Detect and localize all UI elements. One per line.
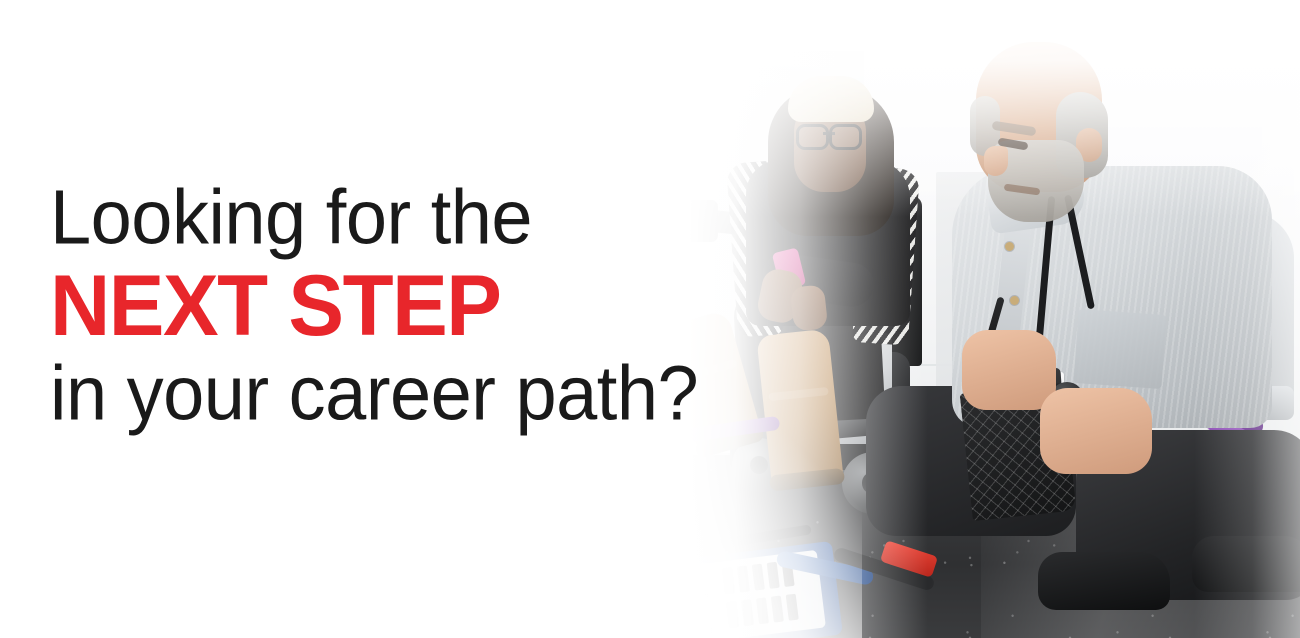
headline-line-1: Looking for the: [50, 176, 710, 259]
caster-hub: [750, 456, 768, 474]
shirt-button: [1005, 242, 1014, 251]
technician-hand-lower: [1040, 388, 1152, 474]
technician-hand-upper: [962, 330, 1056, 410]
eyeglass-lens-left: [796, 124, 829, 150]
career-banner: Looking for the NEXT STEP in your career…: [0, 0, 1300, 638]
woman-eyeglasses: [796, 124, 862, 144]
technician-nose: [984, 146, 1008, 176]
woman-knit-hat: [788, 76, 874, 122]
photo-scene: [636, 0, 1300, 638]
woman-hand-right: [790, 284, 828, 331]
boot-seam: [768, 387, 829, 401]
headline-line-2-accent: NEXT STEP: [50, 258, 500, 354]
eyeglass-lens-right: [829, 124, 862, 150]
banner-photo: [636, 0, 1300, 638]
headline-line-2-wrapper: NEXT STEP: [50, 256, 710, 356]
headline-block: Looking for the NEXT STEP in your career…: [50, 176, 710, 432]
technician-shoe-back: [1192, 536, 1300, 592]
technician-shoe-front: [1038, 552, 1170, 610]
technician-shirt-pocket: [1074, 309, 1167, 389]
shirt-button: [1010, 296, 1019, 305]
headline-line-3: in your career path?: [50, 352, 710, 435]
